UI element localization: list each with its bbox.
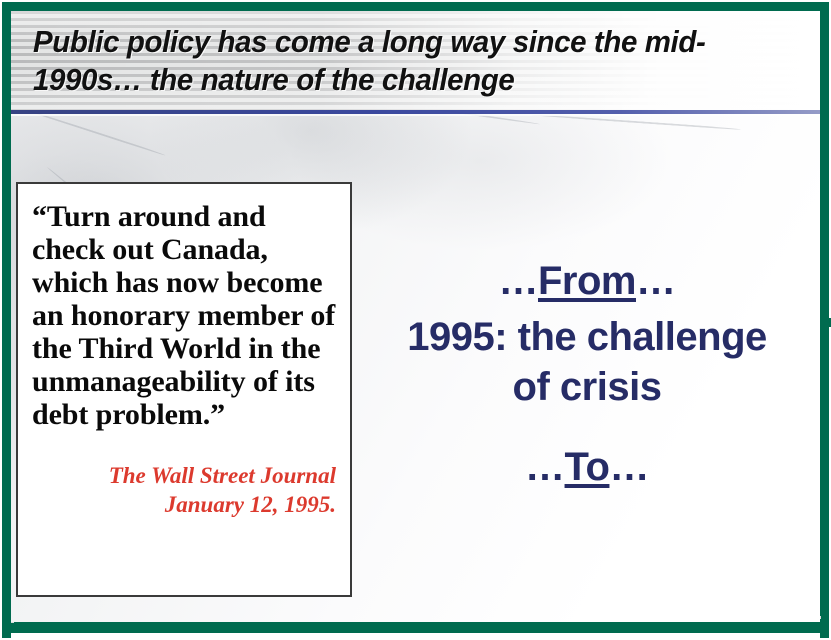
quote-attribution-date: January 12, 1995. <box>165 492 336 517</box>
quote-attribution: The Wall Street Journal January 12, 1995… <box>32 461 336 519</box>
to-ellipsis-leading: … <box>525 445 565 489</box>
quote-text: “Turn around and check out Canada, which… <box>32 200 336 431</box>
watermark-contour <box>531 114 741 131</box>
to-heading: …To… <box>369 442 805 492</box>
challenge-line-1: 1995: the challenge <box>369 312 805 362</box>
slide-border-bottom <box>2 622 829 633</box>
slide-title: Public policy has come a long way since … <box>33 23 736 99</box>
title-separator-highlight <box>11 114 820 116</box>
from-word: From <box>538 259 636 303</box>
slide-border-left <box>2 2 11 638</box>
from-ellipsis-trailing: … <box>636 259 676 303</box>
challenge-line-2: of crisis <box>369 362 805 412</box>
from-heading: …From… <box>369 256 805 306</box>
to-word: To <box>565 445 610 489</box>
quote-attribution-publication: The Wall Street Journal <box>109 463 336 488</box>
to-ellipsis-trailing: … <box>609 445 649 489</box>
transition-text-block: …From… 1995: the challenge of crisis …To… <box>369 256 805 492</box>
slide-title-band: Public policy has come a long way since … <box>11 11 820 110</box>
quote-box: “Turn around and check out Canada, which… <box>16 182 352 597</box>
slide: Public policy has come a long way since … <box>0 0 831 640</box>
slide-border-top <box>2 2 829 11</box>
from-ellipsis-leading: … <box>499 259 539 303</box>
slide-border-notch <box>827 318 831 327</box>
slide-content: Public policy has come a long way since … <box>11 11 820 622</box>
